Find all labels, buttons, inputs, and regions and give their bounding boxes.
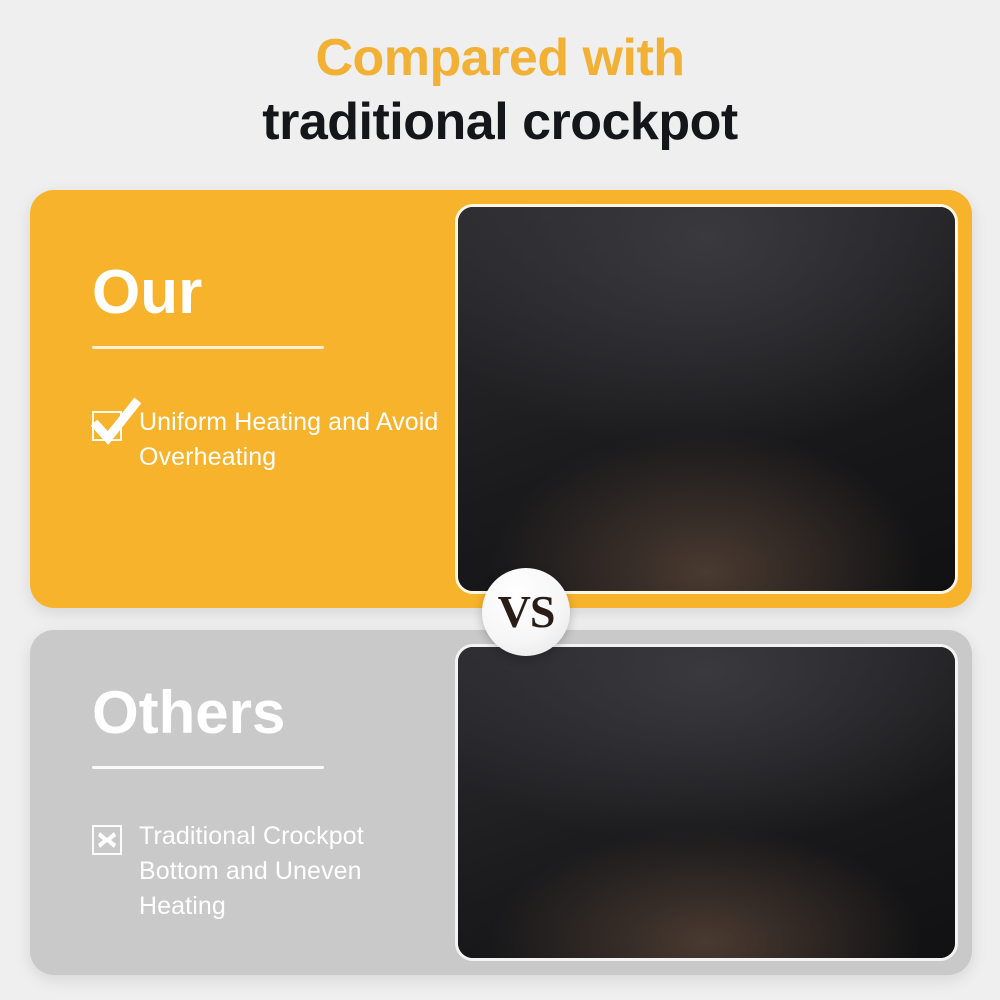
panel-others-text-column: Others Traditional Crockpot Bottom and U… [30,630,455,975]
panel-our-title: Our [92,258,455,328]
comparison-panel-others: Others Traditional Crockpot Bottom and U… [30,630,972,975]
panel-others-feature-text: Traditional Crockpot Bottom and Uneven H… [139,819,439,924]
panel-our-image [455,204,958,594]
image-backdrop [458,647,955,958]
checkmark-icon [92,411,122,441]
page-title-line-2: traditional crockpot [0,90,1000,154]
panel-our-text-column: Our Uniform Heating and Avoid Overheatin… [30,190,455,608]
comparison-panel-our: Our Uniform Heating and Avoid Overheatin… [30,190,972,608]
panel-others-image [455,644,958,961]
panel-others-feature: Traditional Crockpot Bottom and Uneven H… [92,819,455,924]
vs-badge-label: VS [498,589,555,635]
cross-icon [92,825,122,855]
image-backdrop [458,207,955,591]
vs-badge: VS [482,568,570,656]
panel-others-divider [92,766,324,769]
panel-others-title: Others [92,678,455,748]
panel-our-divider [92,346,324,349]
page-title: Compared with traditional crockpot [0,26,1000,154]
panel-our-feature: Uniform Heating and Avoid Overheating [92,405,455,475]
panel-our-feature-text: Uniform Heating and Avoid Overheating [139,405,439,475]
page-title-line-1: Compared with [0,26,1000,90]
